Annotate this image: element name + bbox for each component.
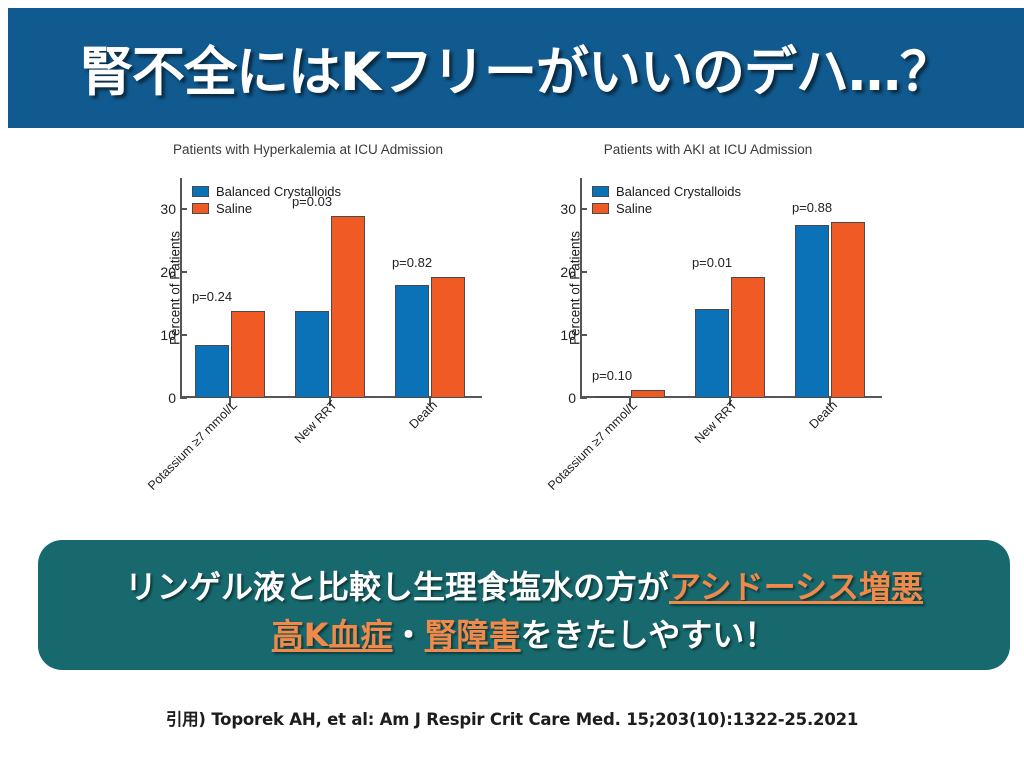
p-value-annotation: p=0.88 xyxy=(792,200,832,215)
bar-balanced xyxy=(195,345,229,398)
bar-balanced xyxy=(795,225,829,398)
y-tick-label: 0 xyxy=(146,390,176,406)
chart-legend: Balanced Crystalloids Saline xyxy=(592,184,741,218)
chart-aki: Patients with AKI at ICU Admission Perce… xyxy=(508,142,908,532)
callout-line-2: 高K血症・腎障害をきたしやすい！ xyxy=(38,610,1010,656)
y-tick-mark xyxy=(580,334,587,336)
p-value-annotation: p=0.24 xyxy=(192,289,232,304)
y-tick-mark xyxy=(180,271,187,273)
y-tick-mark xyxy=(180,397,187,399)
callout-line2-separator: ・ xyxy=(393,616,425,654)
bar-saline xyxy=(631,390,665,398)
legend-item-balanced: Balanced Crystalloids xyxy=(192,184,341,199)
chart-title: Patients with Hyperkalemia at ICU Admiss… xyxy=(108,142,508,157)
y-tick-label: 30 xyxy=(146,201,176,217)
callout-line1-plain: リンゲル液と比較し生理食塩水の方が xyxy=(125,568,669,606)
callout-line1-highlight: アシドーシス増悪 xyxy=(669,568,923,606)
y-tick-label: 20 xyxy=(546,264,576,280)
chart-hyperkalemia: Patients with Hyperkalemia at ICU Admiss… xyxy=(108,142,508,532)
y-tick-mark xyxy=(180,334,187,336)
y-tick-mark xyxy=(580,397,587,399)
y-tick-label: 10 xyxy=(546,327,576,343)
bar-saline xyxy=(331,216,365,398)
legend-swatch-saline-icon xyxy=(592,203,609,214)
bar-balanced xyxy=(395,285,429,398)
legend-swatch-balanced-icon xyxy=(592,186,609,197)
bar-saline xyxy=(231,311,265,398)
callout-line2-highlight-b: 腎障害 xyxy=(425,616,521,654)
legend-item-saline: Saline xyxy=(192,201,341,216)
legend-swatch-balanced-icon xyxy=(192,186,209,197)
y-tick-label: 20 xyxy=(146,264,176,280)
bar-balanced xyxy=(295,311,329,398)
y-tick-label: 10 xyxy=(146,327,176,343)
y-tick-label: 30 xyxy=(546,201,576,217)
conclusion-callout: リンゲル液と比較し生理食塩水の方がアシドーシス増悪 高K血症・腎障害をきたしやす… xyxy=(38,540,1010,670)
legend-label-balanced: Balanced Crystalloids xyxy=(216,184,341,199)
p-value-annotation: p=0.01 xyxy=(692,255,732,270)
p-value-annotation: p=0.10 xyxy=(592,368,632,383)
bar-saline xyxy=(731,277,765,398)
callout-line2-highlight-a: 高K血症 xyxy=(272,616,393,654)
page-title: 腎不全にはKフリーがいいのデハ…？ xyxy=(8,8,1024,128)
legend-swatch-saline-icon xyxy=(192,203,209,214)
legend-label-balanced: Balanced Crystalloids xyxy=(616,184,741,199)
bar-saline xyxy=(431,277,465,398)
legend-item-balanced: Balanced Crystalloids xyxy=(592,184,741,199)
callout-line2-plain: をきたしやすい！ xyxy=(521,616,777,654)
legend-label-saline: Saline xyxy=(616,201,652,216)
y-tick-label: 0 xyxy=(546,390,576,406)
title-banner: 腎不全にはKフリーがいいのデハ…？ xyxy=(8,8,1024,128)
p-value-annotation: p=0.82 xyxy=(392,255,432,270)
legend-item-saline: Saline xyxy=(592,201,741,216)
y-tick-mark xyxy=(580,271,587,273)
citation-text: 引用) Toporek AH, et al: Am J Respir Crit … xyxy=(0,706,1024,730)
bar-balanced xyxy=(695,309,729,398)
chart-legend: Balanced Crystalloids Saline xyxy=(192,184,341,218)
bar-saline xyxy=(831,222,865,398)
callout-line-1: リンゲル液と比較し生理食塩水の方がアシドーシス増悪 xyxy=(38,562,1010,608)
chart-title: Patients with AKI at ICU Admission xyxy=(508,142,908,157)
legend-label-saline: Saline xyxy=(216,201,252,216)
y-tick-mark xyxy=(580,208,587,210)
y-tick-mark xyxy=(180,208,187,210)
bar-balanced xyxy=(595,396,629,398)
